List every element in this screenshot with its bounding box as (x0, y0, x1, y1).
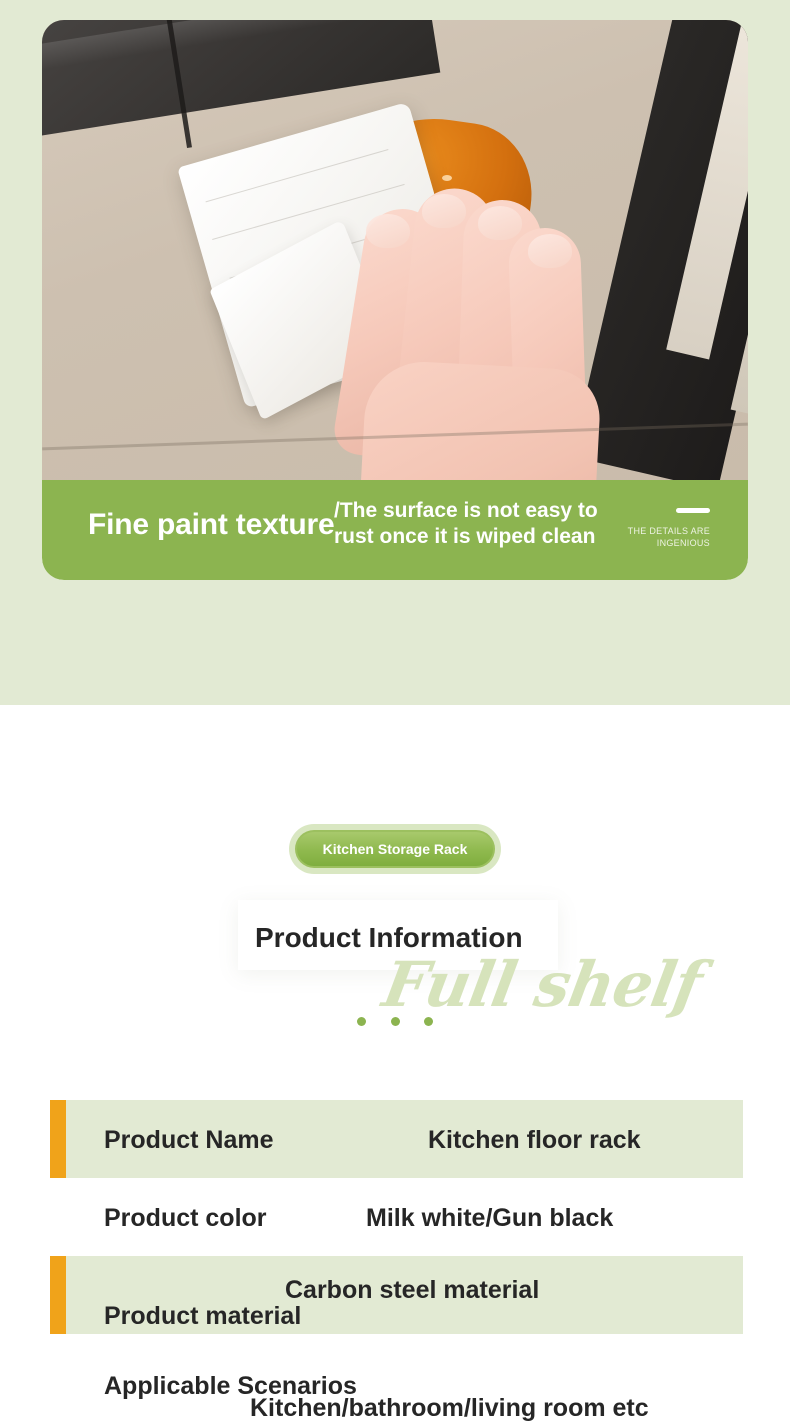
category-pill-ring: Kitchen Storage Rack (295, 830, 496, 868)
table-row: Product material Carbon steel material (0, 1256, 790, 1334)
spec-value: Milk white/Gun black (366, 1204, 613, 1233)
palm (357, 359, 602, 480)
dot-icon (391, 1017, 400, 1026)
spec-table: Product Name Kitchen floor rack Product … (0, 1100, 790, 1412)
hero-caption-subtitle: /The surface is not easy to rust once it… (334, 498, 634, 550)
table-row: Product color Milk white/Gun black (0, 1178, 790, 1256)
spec-value: Kitchen floor rack (428, 1126, 641, 1155)
row-accent-bar (50, 1256, 66, 1334)
spec-label: Product Name (104, 1126, 273, 1155)
fingernail (366, 214, 410, 248)
row-accent-bar (50, 1100, 66, 1178)
hero-photo (42, 20, 748, 480)
category-pill-label: Kitchen Storage Rack (297, 832, 494, 866)
hero-card: Fine paint texture /The surface is not e… (42, 20, 748, 580)
table-row: Applicable Scenarios Kitchen/bathroom/li… (0, 1334, 790, 1412)
spec-label: Product color (104, 1204, 267, 1233)
page-title: Product Information (255, 922, 523, 954)
fingernail (478, 206, 522, 240)
dot-icon (424, 1017, 433, 1026)
section-heading-block: Full shelf Product Information (0, 900, 790, 1040)
category-pill-outer[interactable]: Kitchen Storage Rack (289, 824, 502, 874)
badge-line-1: THE DETAILS ARE (610, 525, 710, 537)
spec-label: Product material (104, 1302, 301, 1331)
fingernail (422, 194, 466, 228)
badge-divider-bar (676, 508, 710, 513)
hero-caption-title: Fine paint texture (88, 508, 334, 542)
fingernail (528, 234, 572, 268)
category-pill-wrapper: Kitchen Storage Rack (0, 824, 790, 874)
spec-value: Kitchen/bathroom/living room etc (250, 1394, 649, 1423)
decorative-script-text: Full shelf (378, 948, 707, 1021)
spec-value: Carbon steel material (285, 1276, 539, 1305)
hero-badge: THE DETAILS ARE INGENIOUS (610, 508, 710, 549)
hero-caption-bar: Fine paint texture /The surface is not e… (42, 480, 748, 580)
dot-icon (357, 1017, 366, 1026)
table-row: Product Name Kitchen floor rack (0, 1100, 790, 1178)
badge-line-2: INGENIOUS (610, 537, 710, 549)
decorative-dots (0, 1013, 790, 1031)
